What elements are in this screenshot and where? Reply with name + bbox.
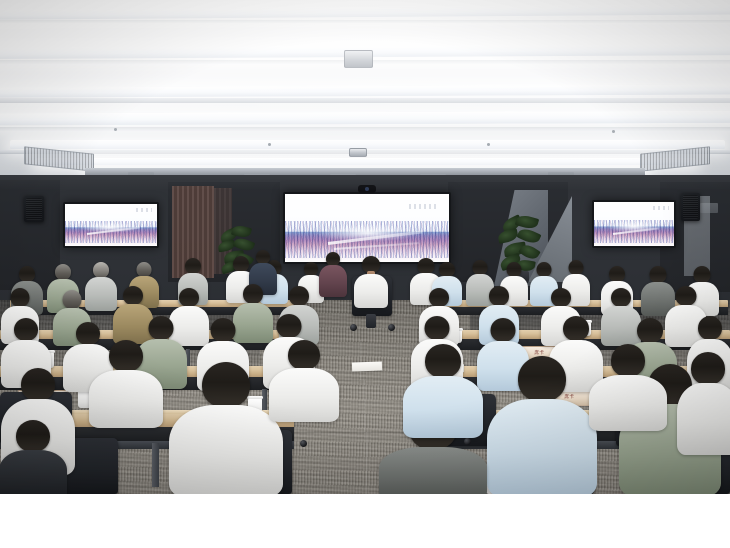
ceiling-light-strip	[36, 158, 696, 165]
chair-base	[366, 314, 376, 328]
attendee	[168, 362, 284, 494]
right-display-bezel	[592, 200, 676, 248]
ceiling-sprinkler-icon	[612, 130, 615, 133]
left-wall-speaker-icon	[24, 196, 44, 222]
right-wall-speaker-icon	[681, 193, 700, 221]
document-sheet	[352, 361, 382, 371]
ceiling-projector-icon	[344, 50, 373, 68]
attendee	[486, 356, 598, 494]
ceiling-sprinkler-icon	[268, 143, 271, 146]
ceiling-sprinkler-icon	[487, 143, 490, 146]
wall-sign	[700, 203, 718, 213]
screenshot-canvas: 席卡 席卡 席卡	[0, 0, 730, 548]
attendee	[318, 252, 348, 298]
conference-camera-icon	[358, 185, 376, 193]
ceiling-seam	[0, 20, 730, 23]
attendee	[88, 340, 164, 426]
ceiling-light-strip	[10, 140, 725, 149]
desk-leg	[152, 443, 159, 487]
attendee	[680, 352, 730, 452]
page-whitespace	[0, 494, 730, 548]
ceiling-sensor-icon	[349, 148, 367, 157]
display-watermark	[653, 206, 669, 210]
conference-room-photograph: 席卡 席卡 席卡	[0, 0, 730, 494]
attendee	[402, 344, 484, 436]
attendee	[268, 340, 340, 420]
attendee	[352, 256, 390, 304]
attendee	[0, 420, 66, 494]
display-watermark	[409, 204, 439, 209]
attendee	[588, 344, 668, 428]
chair-caster	[350, 324, 357, 331]
chair-caster	[300, 440, 307, 447]
left-display-bezel	[63, 202, 159, 248]
chair-caster	[388, 324, 395, 331]
main-display-bezel	[283, 192, 451, 264]
ceiling-sprinkler-icon	[114, 128, 117, 131]
ceiling-seam	[0, 127, 730, 131]
ceiling-ledge	[0, 98, 730, 103]
display-watermark	[136, 208, 152, 212]
nameplate-text: 席卡	[534, 351, 544, 356]
